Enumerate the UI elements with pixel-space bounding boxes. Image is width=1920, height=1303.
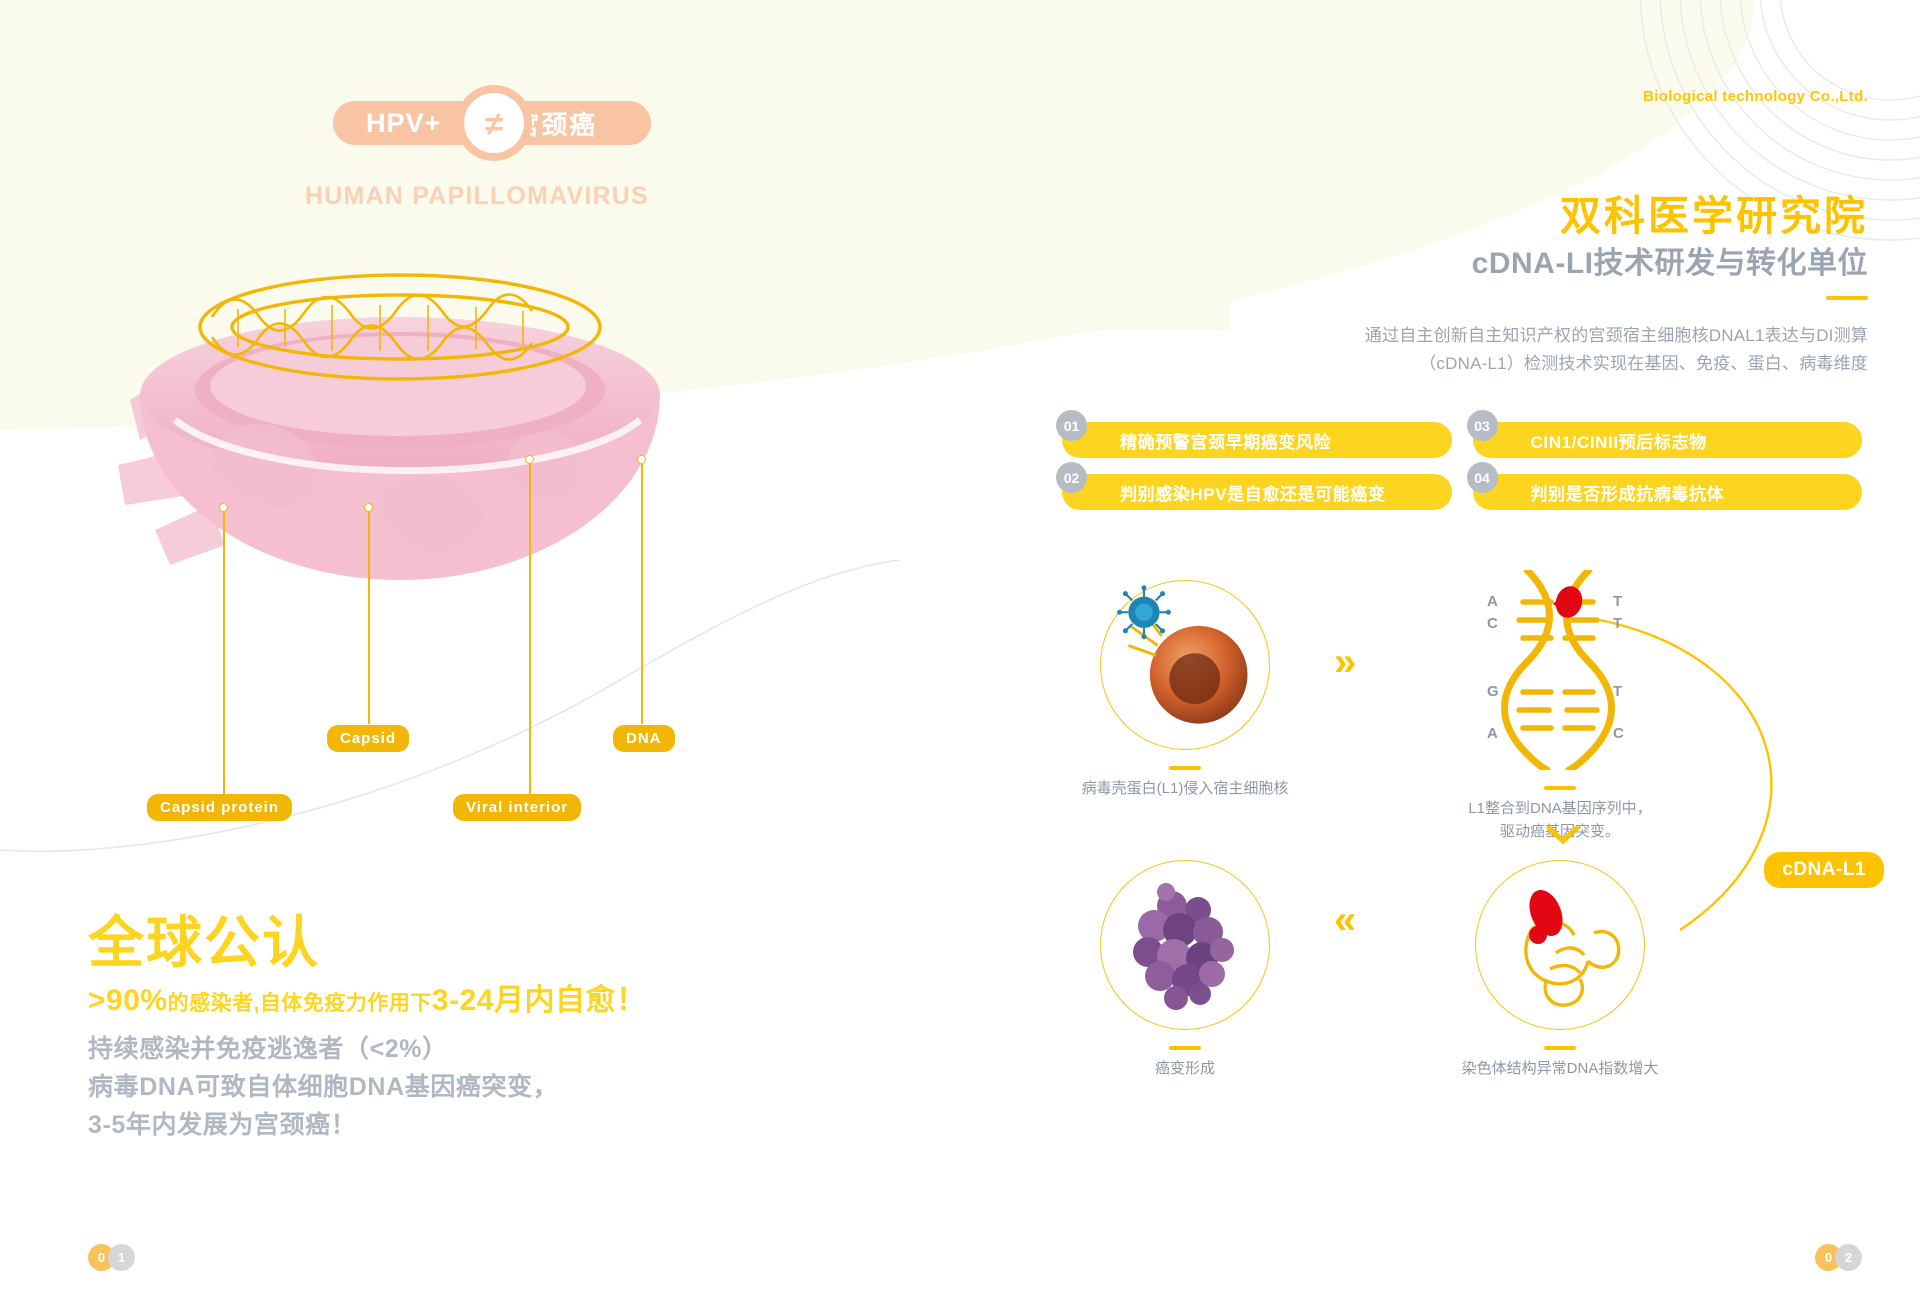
not-equal-badge: ≠ — [456, 85, 532, 161]
svg-text:T: T — [1613, 593, 1622, 610]
page-number-left: 0 1 — [88, 1244, 135, 1271]
callout-line-capsid-protein — [223, 512, 225, 796]
process-arrow-right: » — [1334, 642, 1356, 682]
virus-label-capsid: Capsid — [327, 725, 409, 752]
process-step-2: AC GA TT TC L1整合到DNA基因序列中， 驱动癌基因突变。 — [1415, 570, 1705, 843]
process-step-4-rule — [1169, 1046, 1201, 1050]
process-arrow-down — [1546, 825, 1580, 856]
process-step-3-circle — [1475, 860, 1645, 1030]
institute-title: 双科医学研究院 — [1560, 182, 1868, 242]
callout-dot-viral-interior — [525, 455, 534, 464]
svg-text:G: G — [1487, 683, 1499, 700]
feature-pill-02-number: 02 — [1056, 462, 1087, 493]
feature-pill-03-number: 03 — [1467, 410, 1498, 441]
page-number-right: 0 2 — [1815, 1244, 1862, 1271]
callout-dot-dna — [637, 455, 646, 464]
process-step-4-circle — [1100, 860, 1270, 1030]
process-step-2-graphic: AC GA TT TC — [1465, 570, 1655, 770]
svg-text:C: C — [1487, 615, 1498, 632]
title-divider — [1826, 296, 1868, 300]
svg-text:A: A — [1487, 593, 1498, 610]
infographic-page: HPV+ 宫颈癌 ≠ HUMAN PAPILLOMAVIRUS Biologic… — [0, 0, 1920, 1303]
institute-description-line-1: 通过自主创新自主知识产权的宫颈宿主细胞核DNAL1表达与DI测算 — [1365, 322, 1868, 350]
hpv-virion-icon — [1117, 585, 1171, 639]
dna-double-helix-icon: AC GA TT TC — [1465, 570, 1655, 770]
stat-duration: 3-24月内自愈！ — [432, 984, 647, 1017]
process-diagram: 病毒壳蛋白(L1)侵入宿主细胞核 » — [1060, 580, 1890, 1160]
callout-line-viral-interior — [529, 464, 531, 796]
hpv-subtitle: HUMAN PAPILLOMAVIRUS — [305, 182, 649, 211]
company-name: Biological technology Co.,Ltd. — [1643, 88, 1868, 105]
process-step-1-caption: 病毒壳蛋白(L1)侵入宿主细胞核 — [1060, 778, 1310, 801]
svg-text:T: T — [1613, 683, 1622, 700]
tumour-mass-icon — [1110, 870, 1260, 1020]
svg-text:T: T — [1613, 615, 1622, 632]
feature-pill-01-number: 01 — [1056, 410, 1087, 441]
stat-percent: >90% — [88, 984, 168, 1017]
process-arrow-left: « — [1334, 900, 1356, 940]
page-number-left-digit-2: 1 — [108, 1244, 135, 1271]
process-step-1: 病毒壳蛋白(L1)侵入宿主细胞核 — [1060, 580, 1310, 801]
callout-line-capsid — [368, 512, 370, 724]
process-step-4-caption: 癌变形成 — [1060, 1058, 1310, 1081]
virus-label-dna: DNA — [613, 725, 675, 752]
callout-line-dna — [641, 464, 643, 724]
institute-description-line-2: （cDNA-L1）检测技术实现在基因、免疫、蛋白、病毒维度 — [1365, 350, 1868, 378]
callout-dot-capsid — [364, 503, 373, 512]
feature-pill-01[interactable]: 01 精确预警宫颈早期癌变风险 — [1062, 422, 1452, 458]
tumour-cells — [1133, 883, 1234, 1010]
process-step-3-caption: 染色体结构异常DNA指数增大 — [1415, 1058, 1705, 1081]
institute-description: 通过自主创新自主知识产权的宫颈宿主细胞核DNAL1表达与DI测算 （cDNA-L… — [1365, 322, 1868, 378]
stat-mid-text: 的感染者,自体免疫力作用下 — [168, 992, 432, 1015]
mutation-marker-icon — [1552, 583, 1586, 621]
virus-label-viral-interior: Viral interior — [453, 794, 581, 821]
callout-dot-capsid-protein — [219, 503, 228, 512]
virus-label-capsid-protein: Capsid protein — [147, 794, 292, 821]
institute-subtitle: cDNA-LI技术研发与转化单位 — [1472, 238, 1868, 282]
page-number-right-digit-2: 2 — [1835, 1244, 1862, 1271]
feature-pill-04-number: 04 — [1467, 462, 1498, 493]
process-step-4: 癌变形成 — [1060, 860, 1310, 1081]
svg-text:A: A — [1487, 725, 1498, 742]
virus-invading-nucleus-icon — [1101, 579, 1269, 751]
global-consensus-body: 持续感染并免疫逃逸者（<2%） 病毒DNA可致自体细胞DNA基因癌突变， 3-5… — [88, 1030, 558, 1144]
feature-pill-02-label: 判别感染HPV是自愈还是可能癌变 — [1120, 480, 1386, 505]
feature-pill-03[interactable]: 03 CIN1/CINII预后标志物 — [1473, 422, 1863, 458]
process-step-1-circle — [1100, 580, 1270, 750]
global-consensus-title: 全球公认 — [88, 898, 320, 979]
feature-pill-01-label: 精确预警宫颈早期癌变风险 — [1120, 428, 1331, 453]
feature-pill-04[interactable]: 04 判别是否形成抗病毒抗体 — [1473, 474, 1863, 510]
global-consensus-stat: >90%的感染者,自体免疫力作用下3-24月内自愈！ — [88, 975, 646, 1019]
process-step-1-rule — [1169, 766, 1201, 770]
feature-pill-02[interactable]: 02 判别感染HPV是自愈还是可能癌变 — [1062, 474, 1452, 510]
process-step-2-rule — [1544, 786, 1576, 790]
virus-dna-loop — [190, 265, 610, 395]
feature-pill-04-label: 判别是否形成抗病毒抗体 — [1531, 480, 1725, 505]
process-step-3: 染色体结构异常DNA指数增大 — [1415, 860, 1705, 1081]
feature-pill-row-1: 01 精确预警宫颈早期癌变风险 03 CIN1/CINII预后标志物 — [1062, 422, 1862, 458]
feature-pill-03-label: CIN1/CINII预后标志物 — [1531, 428, 1707, 453]
svg-text:C: C — [1613, 725, 1624, 742]
feature-pill-row-2: 02 判别感染HPV是自愈还是可能癌变 04 判别是否形成抗病毒抗体 — [1062, 474, 1862, 510]
not-equal-icon: ≠ — [464, 93, 524, 153]
hpv-badge-left-text: HPV+ — [366, 108, 441, 139]
process-step-3-rule — [1544, 1046, 1576, 1050]
abnormal-chromosome-icon — [1480, 865, 1640, 1025]
cdna-l1-tag: cDNA-L1 — [1764, 852, 1884, 888]
feature-pill-group: 01 精确预警宫颈早期癌变风险 03 CIN1/CINII预后标志物 02 判别… — [1062, 422, 1862, 526]
chromosome-mutation-blob — [1523, 885, 1569, 944]
